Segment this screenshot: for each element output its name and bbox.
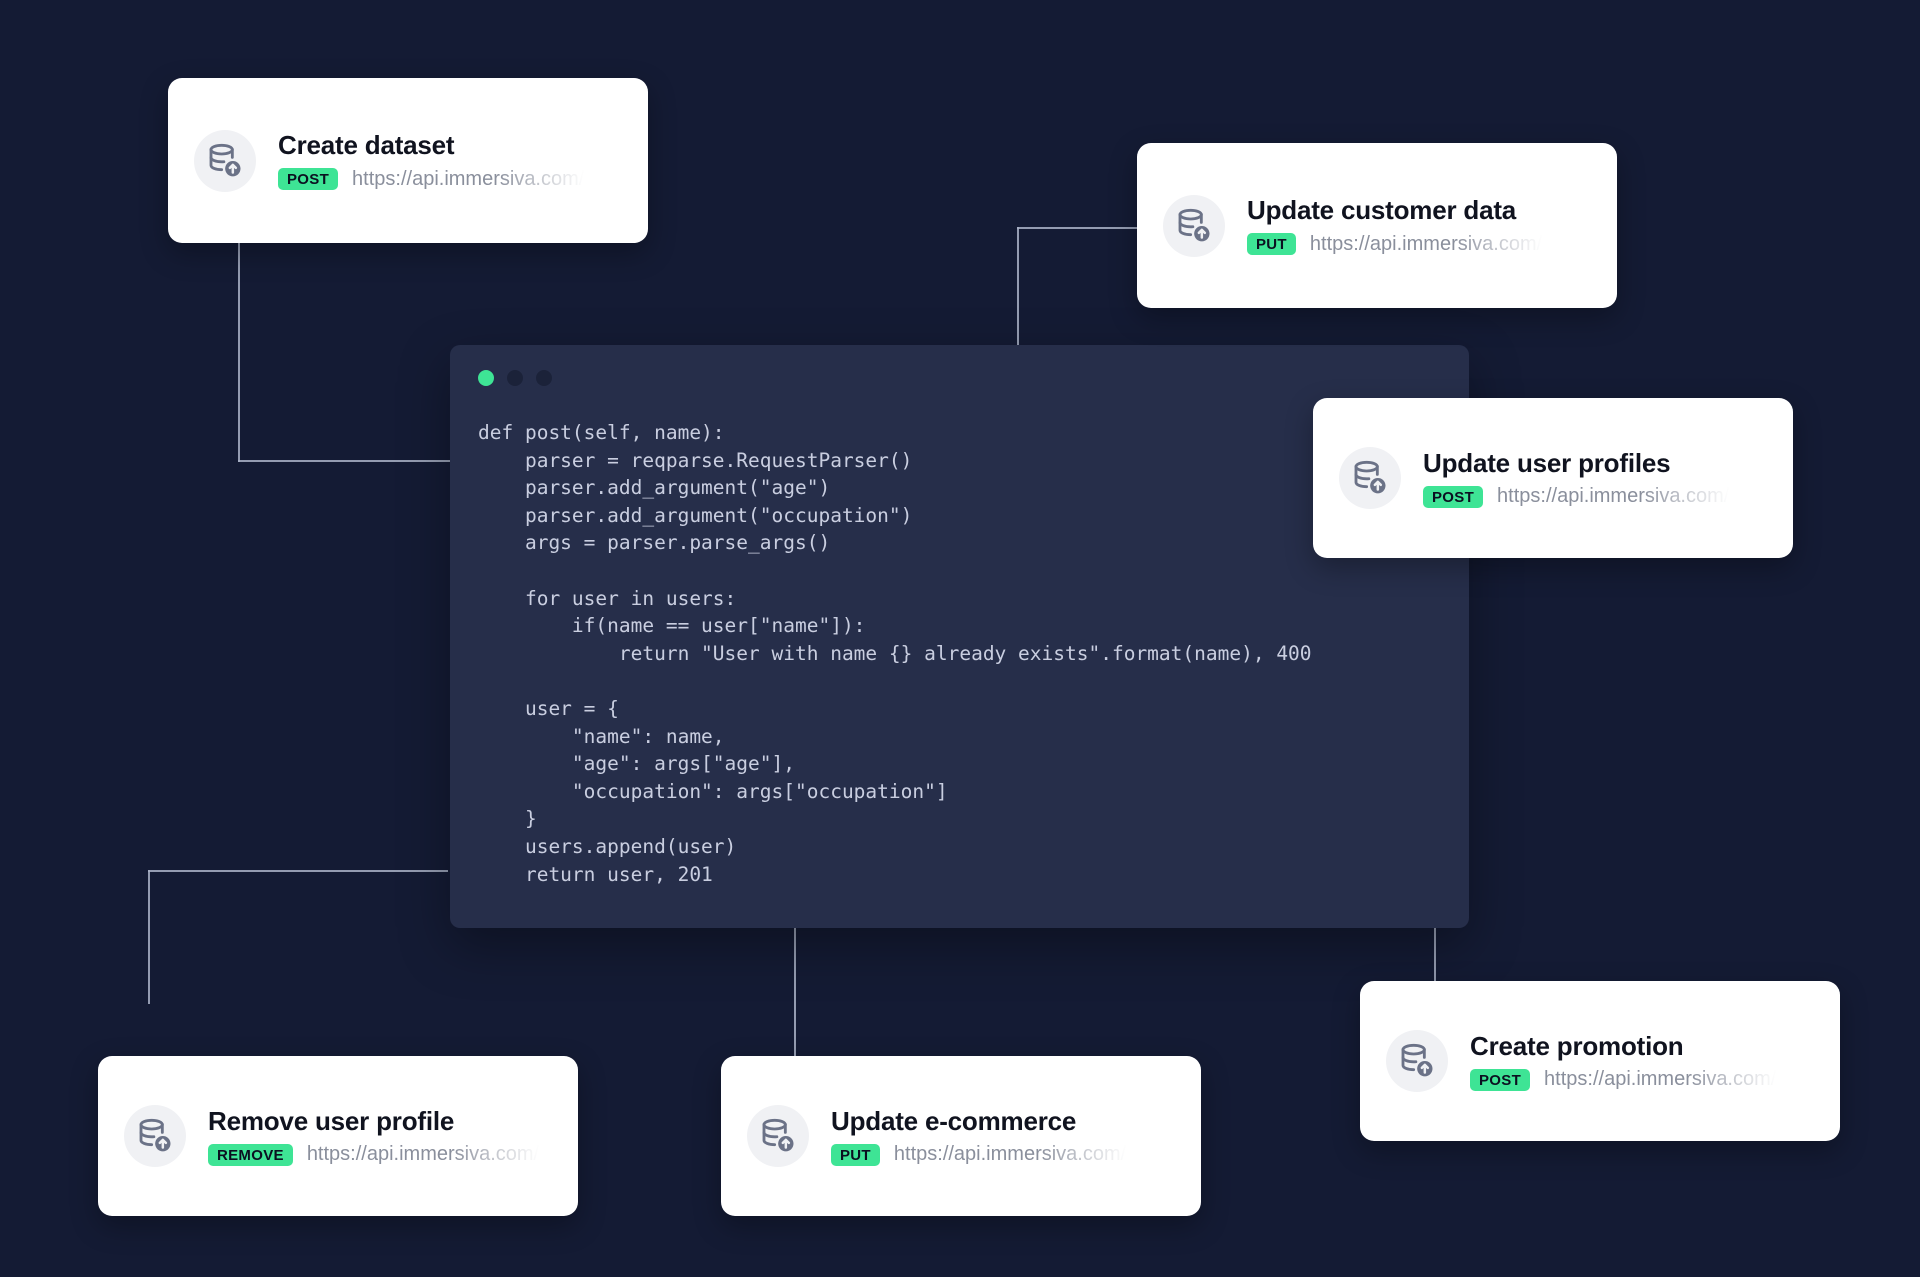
endpoint-url: https://api.immersiva.com/ — [352, 168, 584, 191]
card-title: Update customer data — [1247, 195, 1591, 226]
card-subtitle: PUT https://api.immersiva.com/ — [1247, 233, 1591, 256]
method-badge: POST — [278, 168, 338, 190]
api-card-update-user-profiles[interactable]: Update user profiles POST https://api.im… — [1313, 398, 1793, 558]
card-title: Create promotion — [1470, 1031, 1814, 1062]
connector-update-customer-vertical — [1017, 227, 1019, 347]
connector-left-bottom-horizontal — [148, 870, 448, 872]
card-title: Create dataset — [278, 130, 622, 161]
card-subtitle: POST https://api.immersiva.com/ — [1423, 485, 1767, 508]
card-body: Create dataset POST https://api.immersiv… — [278, 130, 622, 191]
code-block: def post(self, name): parser = reqparse.… — [478, 419, 1457, 888]
card-title: Remove user profile — [208, 1106, 552, 1137]
card-body: Remove user profile REMOVE https://api.i… — [208, 1106, 552, 1167]
api-card-create-dataset[interactable]: Create dataset POST https://api.immersiv… — [168, 78, 648, 243]
connector-update-ecommerce-vertical — [794, 925, 796, 1060]
connector-left-bottom-vertical — [148, 870, 150, 1004]
card-body: Update customer data PUT https://api.imm… — [1247, 195, 1591, 256]
connector-create-dataset-horizontal — [238, 460, 453, 462]
database-upload-icon — [747, 1105, 809, 1167]
diagram-canvas: def post(self, name): parser = reqparse.… — [0, 0, 1920, 1277]
method-badge: POST — [1470, 1069, 1530, 1091]
endpoint-url: https://api.immersiva.com/ — [894, 1143, 1126, 1166]
endpoint-url: https://api.immersiva.com/ — [1310, 233, 1542, 256]
database-upload-icon — [194, 130, 256, 192]
method-badge: PUT — [1247, 233, 1296, 255]
api-card-update-e-commerce[interactable]: Update e-commerce PUT https://api.immers… — [721, 1056, 1201, 1216]
endpoint-url: https://api.immersiva.com/ — [307, 1143, 539, 1166]
card-subtitle: POST https://api.immersiva.com/ — [278, 168, 622, 191]
database-upload-icon — [1386, 1030, 1448, 1092]
database-upload-icon — [1339, 447, 1401, 509]
database-upload-icon — [124, 1105, 186, 1167]
window-dots — [478, 370, 552, 386]
card-subtitle: PUT https://api.immersiva.com/ — [831, 1143, 1175, 1166]
method-badge: PUT — [831, 1144, 880, 1166]
endpoint-url: https://api.immersiva.com/ — [1544, 1068, 1776, 1091]
window-dot-green[interactable] — [478, 370, 494, 386]
card-body: Create promotion POST https://api.immers… — [1470, 1031, 1814, 1092]
method-badge: REMOVE — [208, 1144, 293, 1166]
card-body: Update user profiles POST https://api.im… — [1423, 448, 1767, 509]
api-card-create-promotion[interactable]: Create promotion POST https://api.immers… — [1360, 981, 1840, 1141]
api-card-remove-user-profile[interactable]: Remove user profile REMOVE https://api.i… — [98, 1056, 578, 1216]
window-dot-yellow[interactable] — [507, 370, 523, 386]
card-title: Update user profiles — [1423, 448, 1767, 479]
window-dot-red[interactable] — [536, 370, 552, 386]
card-subtitle: REMOVE https://api.immersiva.com/ — [208, 1143, 552, 1166]
api-card-update-customer-data[interactable]: Update customer data PUT https://api.imm… — [1137, 143, 1617, 308]
card-body: Update e-commerce PUT https://api.immers… — [831, 1106, 1175, 1167]
card-subtitle: POST https://api.immersiva.com/ — [1470, 1068, 1814, 1091]
endpoint-url: https://api.immersiva.com/ — [1497, 485, 1729, 508]
database-upload-icon — [1163, 195, 1225, 257]
connector-update-customer-horizontal — [1017, 227, 1137, 229]
card-title: Update e-commerce — [831, 1106, 1175, 1137]
method-badge: POST — [1423, 486, 1483, 508]
